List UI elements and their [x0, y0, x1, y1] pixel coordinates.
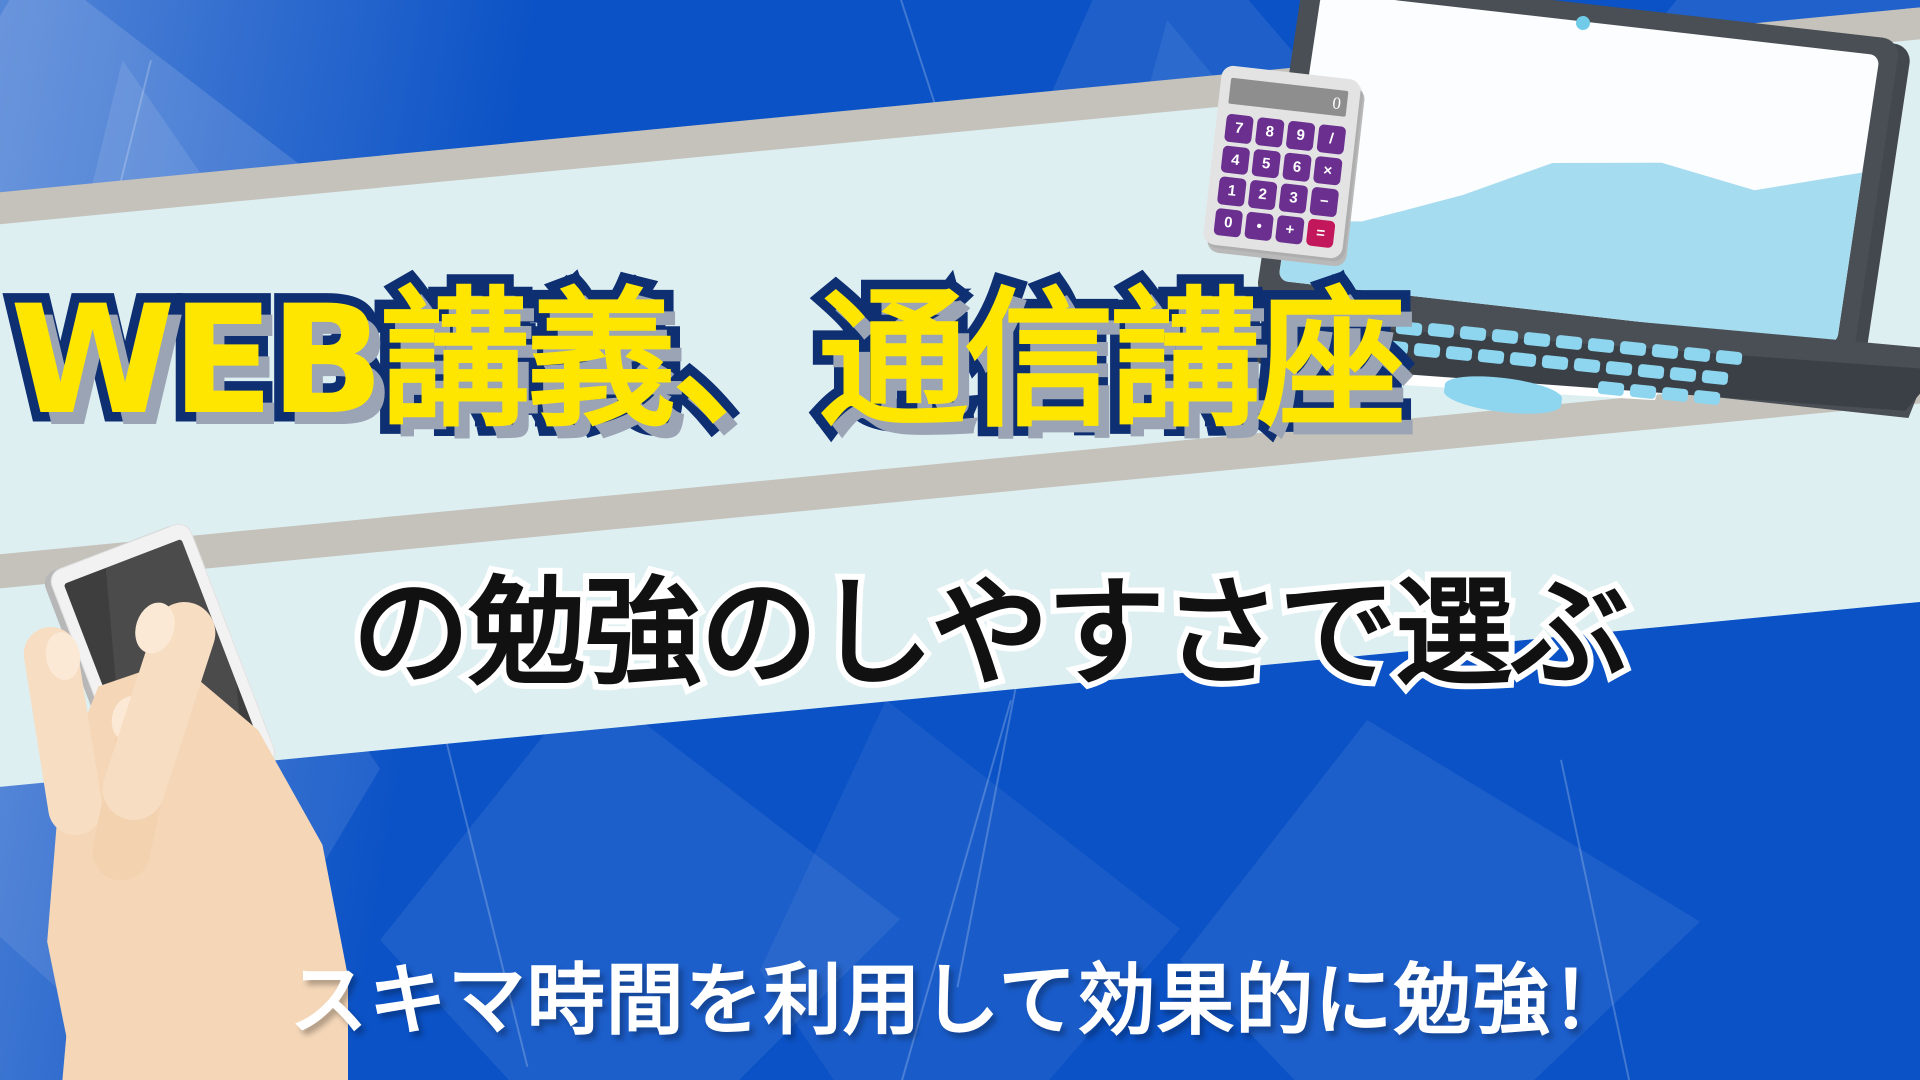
laptop-key [1573, 358, 1600, 374]
calculator-key-equals: = [1306, 218, 1336, 248]
laptop-key [1715, 350, 1742, 366]
calculator-key-decimal: • [1244, 211, 1274, 241]
tagline: スキマ時間を利用して効果的に勉強！ [0, 962, 1920, 1040]
calculator-key-9: 9 [1286, 120, 1316, 150]
laptop-key [1701, 370, 1728, 386]
calculator-key-2: 2 [1248, 180, 1278, 210]
laptop-key [1651, 344, 1678, 360]
laptop-key [1587, 338, 1614, 354]
laptop-key [1555, 335, 1582, 351]
laptop-key [1605, 361, 1632, 377]
laptop-key [1637, 364, 1664, 380]
laptop-key [1491, 329, 1518, 345]
calculator-key-8: 8 [1255, 117, 1285, 147]
calculator-key-minus: − [1309, 187, 1339, 217]
calculator-key-0: 0 [1213, 207, 1243, 237]
laptop-key [1669, 367, 1696, 383]
calculator-key-4: 4 [1220, 145, 1250, 175]
calculator-key-divide: / [1316, 124, 1346, 154]
calculator-key-plus: + [1275, 214, 1305, 244]
laptop-key [1629, 384, 1656, 400]
subheadline: の勉強のしやすさで選ぶ [352, 574, 1627, 692]
calculator-key-multiply: × [1313, 155, 1343, 185]
laptop-key [1683, 347, 1710, 363]
laptop-key [1413, 343, 1440, 359]
calculator-illustration: 0 7 8 9 / 4 5 6 × 1 2 3 − 0 • + = [1202, 65, 1361, 260]
calculator-display-value: 0 [1332, 94, 1342, 112]
laptop-key [1477, 349, 1504, 365]
laptop-key [1509, 352, 1536, 368]
laptop-key [1597, 381, 1624, 397]
laptop-key [1523, 332, 1550, 348]
laptop-key [1427, 323, 1454, 339]
laptop-key [1661, 387, 1688, 403]
laptop-key [1619, 341, 1646, 357]
calculator-key-7: 7 [1224, 113, 1254, 143]
calculator-display: 0 [1228, 78, 1348, 117]
calculator-key-5: 5 [1251, 148, 1281, 178]
calculator-key-3: 3 [1278, 183, 1308, 213]
laptop-key [1541, 355, 1568, 371]
calculator-keypad: 7 8 9 / 4 5 6 × 1 2 3 − 0 • + = [1213, 113, 1346, 248]
calculator-key-1: 1 [1217, 176, 1247, 206]
headline: WEB講義、通信講座 [10, 286, 1402, 436]
laptop-key [1445, 346, 1472, 362]
poster-canvas: 0 7 8 9 / 4 5 6 × 1 2 3 − 0 • + = [0, 0, 1920, 1080]
calculator-key-6: 6 [1282, 152, 1312, 182]
laptop-key [1459, 326, 1486, 342]
laptop-key [1693, 390, 1720, 406]
